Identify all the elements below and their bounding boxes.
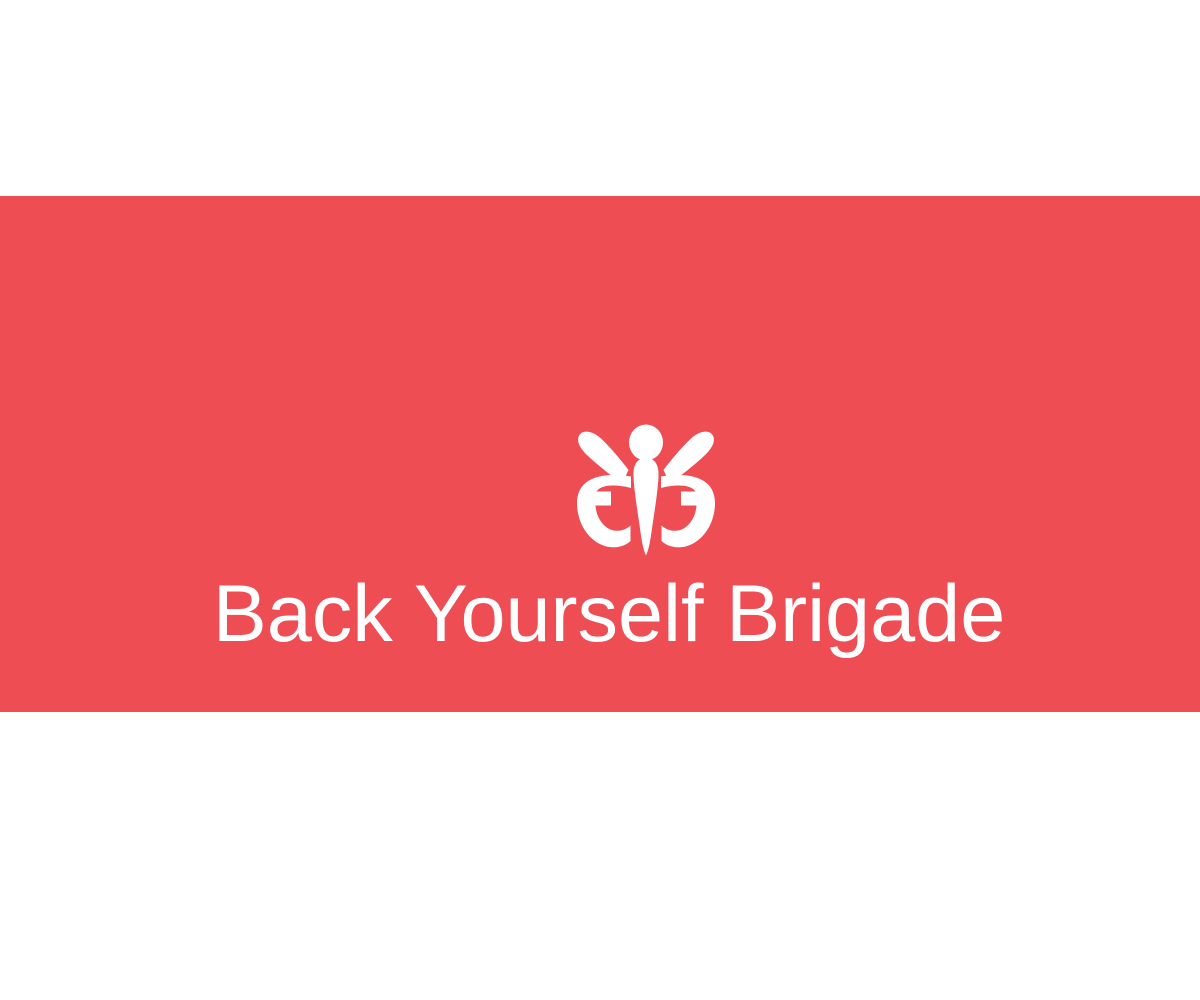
brand-wordmark: Back Yourself Brigade (9, 566, 1200, 662)
page-root: Back Yourself Brigade (0, 0, 1200, 1000)
brand-banner: Back Yourself Brigade (0, 196, 1200, 712)
butterfly-person-byb-logo-icon (576, 424, 716, 557)
